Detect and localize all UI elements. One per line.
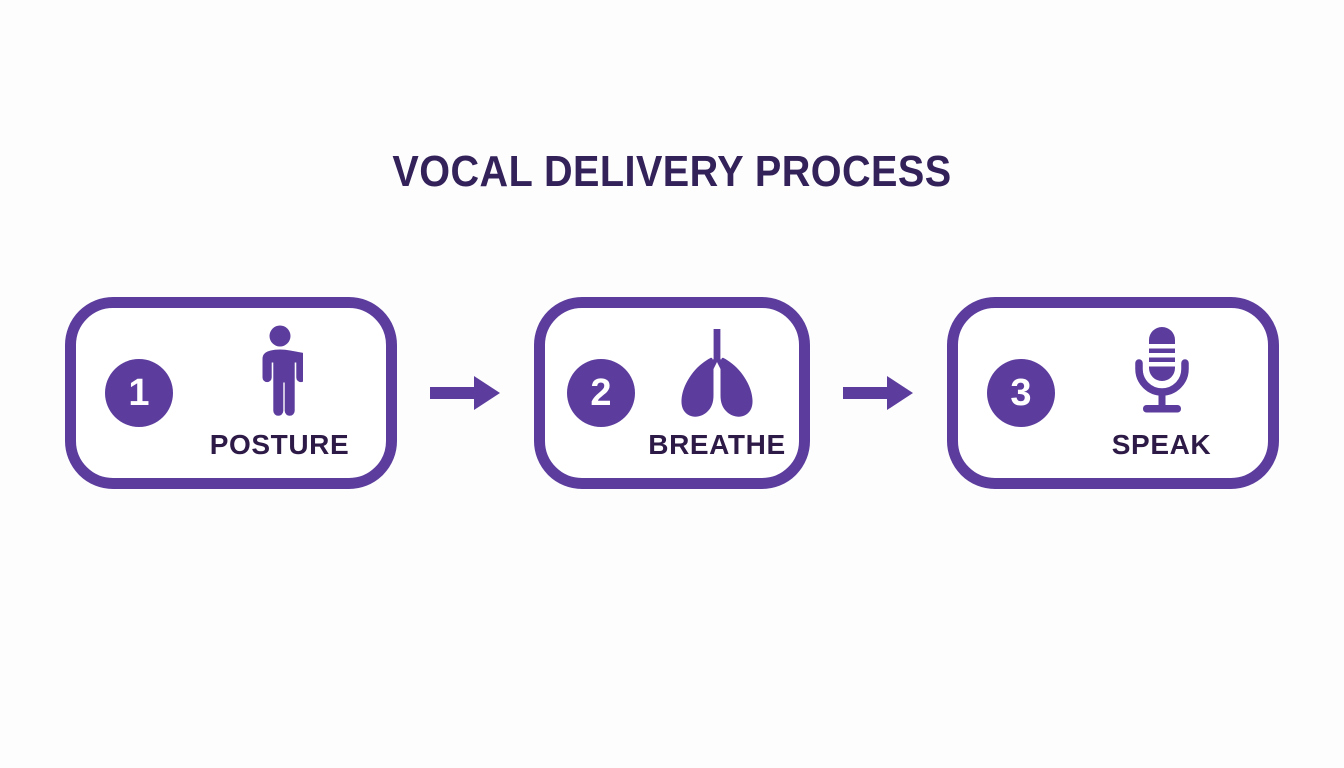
page-title: VOCAL DELIVERY PROCESS — [67, 146, 1277, 198]
step-label-breathe: BREATHE — [648, 431, 785, 459]
lungs-icon — [669, 325, 765, 417]
step-number-badge-2: 2 — [567, 359, 635, 427]
step-number-badge-1: 1 — [105, 359, 173, 427]
step-label-posture: POSTURE — [210, 431, 350, 459]
arrow-right-icon-1 — [430, 371, 502, 415]
step-body-posture: POSTURE — [173, 325, 386, 461]
arrow-right-icon-2 — [843, 371, 915, 415]
step-card-speak[interactable]: 3 — [947, 297, 1279, 489]
step-body-speak: SPEAK — [1055, 325, 1268, 461]
step-body-breathe: BREATHE — [635, 325, 799, 461]
microphone-icon — [1131, 325, 1193, 417]
step-card-posture[interactable]: 1 POSTURE — [65, 297, 397, 489]
standing-person-icon — [257, 325, 303, 417]
process-flow-row: 1 POSTURE 2 — [65, 297, 1279, 489]
infographic-canvas: VOCAL DELIVERY PROCESS 1 POSTURE — [0, 0, 1344, 768]
step-card-breathe[interactable]: 2 BREATHE — [534, 297, 810, 489]
step-label-speak: SPEAK — [1112, 431, 1211, 459]
step-number-badge-3: 3 — [987, 359, 1055, 427]
